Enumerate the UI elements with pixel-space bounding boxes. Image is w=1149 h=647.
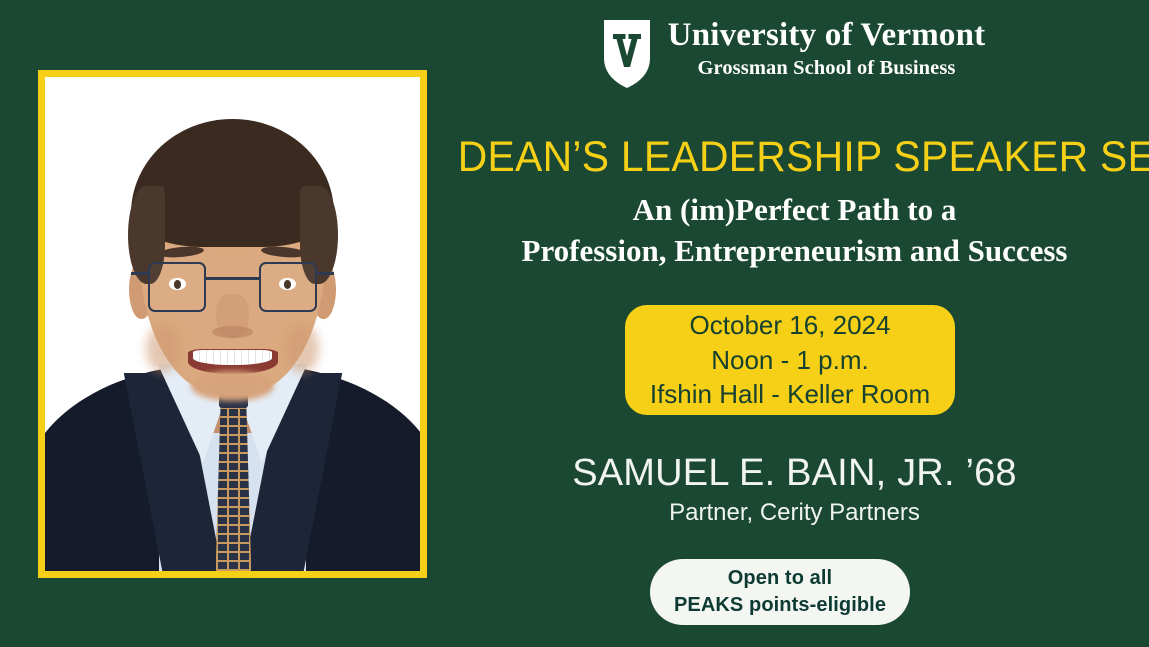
- portrait-glasses-arm-right: [315, 272, 334, 275]
- talk-title: An (im)Perfect Path to a Profession, Ent…: [440, 190, 1149, 272]
- university-name: University of Vermont: [668, 18, 986, 53]
- event-date: October 16, 2024: [690, 308, 891, 343]
- portrait-chin: [191, 371, 274, 401]
- speaker-role: Partner, Cerity Partners: [440, 499, 1149, 527]
- speaker-photo: [45, 77, 420, 571]
- portrait-cheek-right: [285, 324, 319, 373]
- portrait-glasses-bridge: [206, 277, 259, 280]
- uvm-wordmark: University of Vermont Grossman School of…: [668, 18, 986, 80]
- event-poster: University of Vermont Grossman School of…: [0, 0, 1149, 647]
- school-name: Grossman School of Business: [697, 57, 955, 80]
- event-location: Ifshin Hall - Keller Room: [650, 377, 930, 412]
- portrait-teeth: [193, 350, 272, 365]
- portrait-cheek-left: [146, 324, 180, 373]
- talk-title-line-1: An (im)Perfect Path to a: [440, 190, 1149, 231]
- portrait-tie: [216, 403, 252, 571]
- peaks-badge-line-1: Open to all: [728, 565, 832, 592]
- peaks-badge: Open to all PEAKS points-eligible: [650, 559, 910, 625]
- event-time: Noon - 1 p.m.: [711, 343, 869, 378]
- talk-title-line-2: Profession, Entrepreneurism and Success: [440, 231, 1149, 272]
- portrait-illustration: [45, 77, 420, 571]
- poster-content: University of Vermont Grossman School of…: [440, 0, 1149, 647]
- speaker-photo-frame: [38, 70, 427, 578]
- event-details-box: October 16, 2024 Noon - 1 p.m. Ifshin Ha…: [625, 305, 955, 415]
- series-title: DEAN’S LEADERSHIP SPEAKER SERIES: [458, 133, 1132, 182]
- portrait-glasses-arm-left: [131, 272, 150, 275]
- uvm-shield-v-icon: [604, 20, 650, 88]
- portrait-glasses-left-lens: [148, 262, 206, 311]
- portrait-glasses-right-lens: [259, 262, 317, 311]
- peaks-badge-line-2: PEAKS points-eligible: [674, 592, 886, 619]
- speaker-name: SAMUEL E. BAIN, JR. ’68: [440, 452, 1149, 495]
- uvm-logo-lockup: University of Vermont Grossman School of…: [440, 18, 1149, 88]
